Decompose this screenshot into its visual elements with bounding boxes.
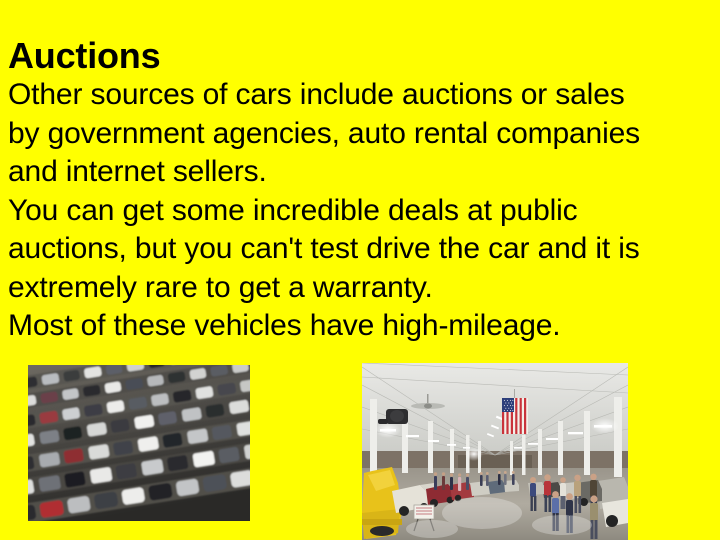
body-line-5: auctions, but you can't test drive the c… bbox=[8, 230, 714, 269]
body-line-4: You can get some incredible deals at pub… bbox=[8, 192, 714, 231]
slide-text-block: Auctions Other sources of cars include a… bbox=[8, 36, 714, 346]
auction-hall-photo bbox=[362, 363, 628, 540]
car-lot-aerial-photo bbox=[28, 365, 250, 521]
body-line-2: by government agencies, auto rental comp… bbox=[8, 115, 714, 154]
page-title: Auctions bbox=[8, 36, 714, 76]
body-line-7: Most of these vehicles have high-mileage… bbox=[8, 307, 714, 346]
body-line-6: extremely rare to get a warranty. bbox=[8, 269, 714, 308]
body-line-3: and internet sellers. bbox=[8, 153, 714, 192]
slide-canvas: Auctions Other sources of cars include a… bbox=[0, 0, 720, 540]
body-line-1: Other sources of cars include auctions o… bbox=[8, 76, 714, 115]
